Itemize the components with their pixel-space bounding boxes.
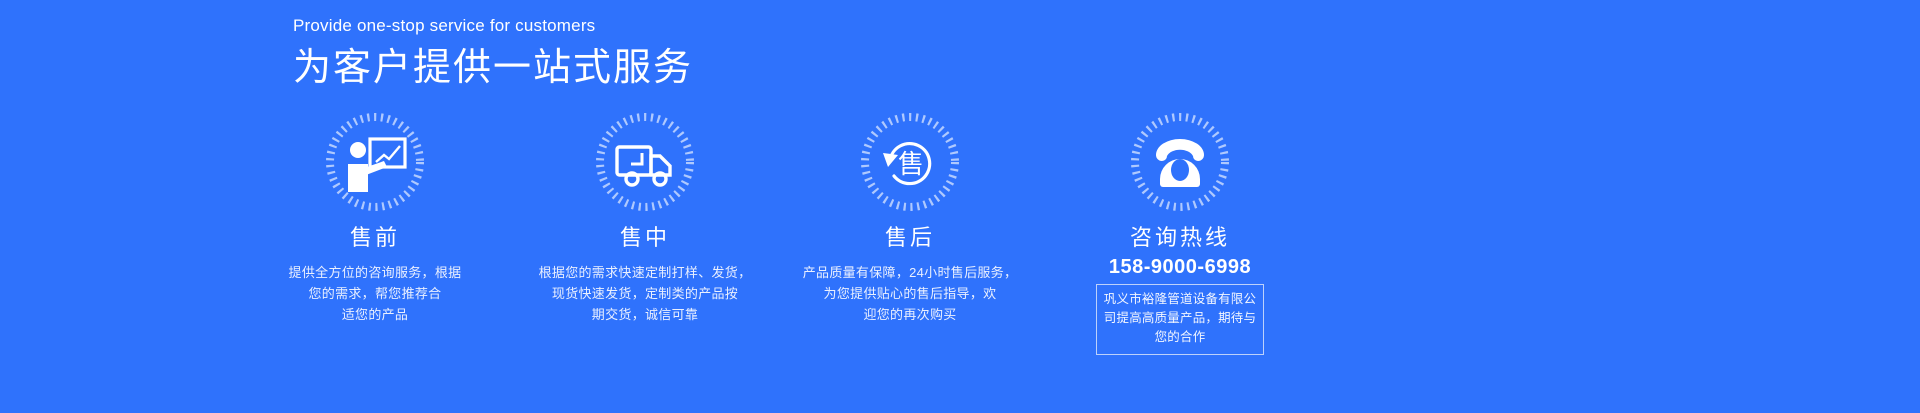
service-description: 产品质量有保障，24小时售后服务， 为您提供贴心的售后指导，欢 迎您的再次购买 xyxy=(760,262,1060,325)
service-description: 根据您的需求快速定制打样、发货， 现货快速发货，定制类的产品按 期交货，诚信可靠 xyxy=(495,262,795,325)
after-sales-refresh-icon: 售 xyxy=(877,134,943,194)
company-line: 司提高高质量产品，期待与 xyxy=(1103,309,1257,328)
desc-line: 迎您的再次购买 xyxy=(760,304,1060,325)
service-item-presale[interactable]: 售前 提供全方位的咨询服务，根据 您的需求，帮您推荐合 适您的产品 xyxy=(225,110,525,325)
service-banner: Provide one-stop service for customers 为… xyxy=(0,0,1920,413)
service-item-insale[interactable]: 售中 根据您的需求快速定制打样、发货， 现货快速发货，定制类的产品按 期交货，诚… xyxy=(495,110,795,325)
desc-line: 您的需求，帮您推荐合 xyxy=(225,283,525,304)
desc-line: 提供全方位的咨询服务，根据 xyxy=(225,262,525,283)
service-title: 售中 xyxy=(495,224,795,253)
heading-block: Provide one-stop service for customers 为… xyxy=(293,16,693,93)
service-item-hotline[interactable]: 咨询热线 158-9000-6998 巩义市裕隆管道设备有限公 司提高高质量产品… xyxy=(1030,110,1330,355)
service-title: 售后 xyxy=(760,224,1060,253)
delivery-truck-icon xyxy=(612,134,678,194)
service-title: 售前 xyxy=(225,224,525,253)
desc-line: 根据您的需求快速定制打样、发货， xyxy=(495,262,795,283)
service-columns: 售前 提供全方位的咨询服务，根据 您的需求，帮您推荐合 适您的产品 xyxy=(240,110,1680,410)
hotline-number[interactable]: 158-9000-6998 xyxy=(1030,255,1330,280)
desc-line: 现货快速发货，定制类的产品按 xyxy=(495,283,795,304)
icon-wrapper xyxy=(495,110,795,218)
service-title: 咨询热线 xyxy=(1030,224,1330,253)
desc-line: 为您提供贴心的售后指导，欢 xyxy=(760,283,1060,304)
icon-wrapper: 售 xyxy=(760,110,1060,218)
service-item-aftersale[interactable]: 售 售后 产品质量有保障，24小时售后服务， 为您提供贴心的售后指导，欢 迎您的… xyxy=(760,110,1060,325)
icon-wrapper xyxy=(225,110,525,218)
presenter-whiteboard-icon xyxy=(342,134,408,194)
subtitle-english: Provide one-stop service for customers xyxy=(293,16,693,36)
desc-line: 适您的产品 xyxy=(225,304,525,325)
desc-line: 产品质量有保障，24小时售后服务， xyxy=(760,262,1060,283)
icon-wrapper xyxy=(1030,110,1330,218)
telephone-icon xyxy=(1147,134,1213,194)
company-line: 您的合作 xyxy=(1103,328,1257,347)
page-title: 为客户提供一站式服务 xyxy=(293,45,693,93)
desc-line: 期交货，诚信可靠 xyxy=(495,304,795,325)
service-description: 提供全方位的咨询服务，根据 您的需求，帮您推荐合 适您的产品 xyxy=(225,262,525,325)
company-info-box: 巩义市裕隆管道设备有限公 司提高高质量产品，期待与 您的合作 xyxy=(1096,284,1264,355)
company-line: 巩义市裕隆管道设备有限公 xyxy=(1103,290,1257,309)
icon-center-char: 售 xyxy=(898,149,924,179)
